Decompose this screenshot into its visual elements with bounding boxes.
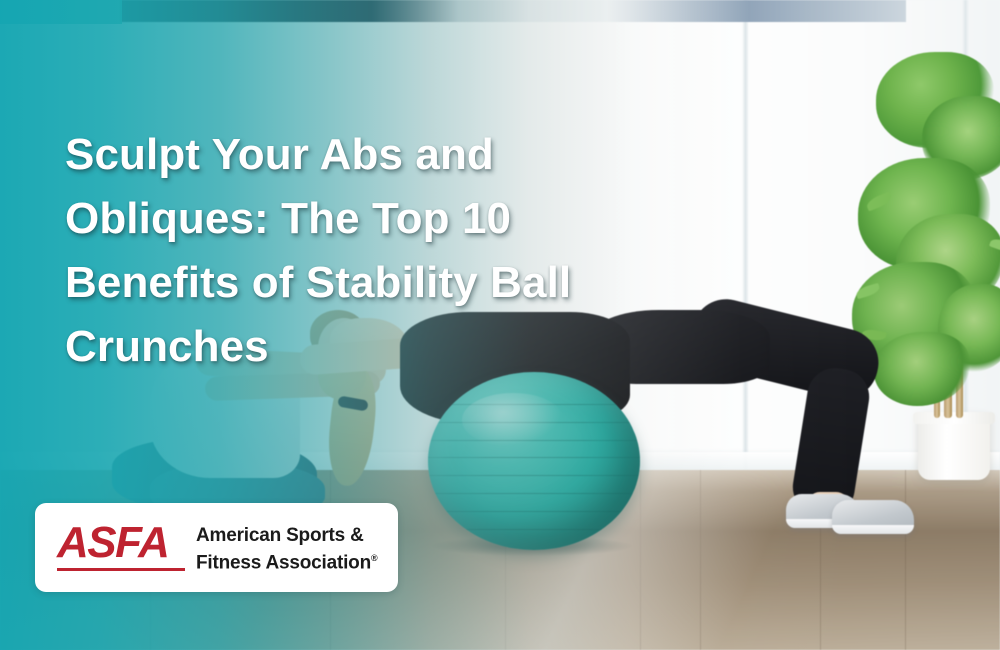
asfa-article-banner: Sculpt Your Abs and Obliques: The Top 10…: [0, 0, 1000, 650]
title-line: Sculpt Your Abs and: [65, 130, 494, 179]
title-line: Obliques: The Top 10: [65, 194, 511, 243]
title-line: Benefits of Stability Ball: [65, 258, 571, 307]
asfa-name-line-2-text: Fitness Association: [196, 552, 371, 573]
asfa-full-name: American Sports & Fitness Association®: [196, 521, 377, 574]
page-title: Sculpt Your Abs and Obliques: The Top 10…: [65, 123, 705, 379]
teal-gradient-overlay-top-left: [0, 0, 122, 24]
title-line: Crunches: [65, 322, 269, 371]
asfa-name-line-1: American Sports &: [196, 524, 377, 547]
asfa-wordmark-text: ASFA: [57, 521, 187, 565]
asfa-underline-rule: [57, 568, 185, 571]
asfa-logo-card[interactable]: ASFA American Sports & Fitness Associati…: [35, 503, 398, 592]
asfa-name-line-2: Fitness Association®: [196, 547, 377, 574]
asfa-wordmark: ASFA: [57, 521, 187, 571]
registered-mark: ®: [371, 553, 377, 563]
